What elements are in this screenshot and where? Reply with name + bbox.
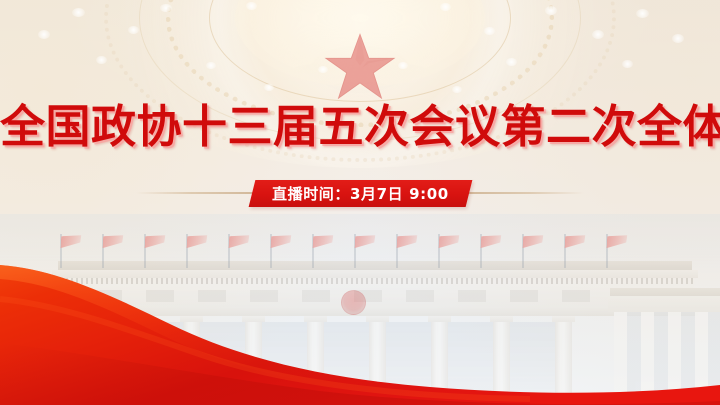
broadcast-time-banner: 直播时间：3月7日 9:00 [248, 180, 472, 207]
ceiling-light [128, 26, 139, 34]
national-emblem-icon [341, 290, 366, 315]
ceiling-light [206, 62, 216, 69]
subtitle-row: 直播时间：3月7日 9:00 [0, 178, 720, 208]
ceiling-light [264, 84, 274, 91]
ceiling-light [672, 34, 684, 43]
ceiling-light [636, 9, 649, 18]
ceiling-light [38, 30, 50, 39]
ceiling-light [246, 2, 257, 10]
red-star-icon [323, 30, 397, 104]
ceiling-light [440, 3, 451, 11]
divider-line-right [464, 192, 584, 194]
ceiling-light [318, 66, 328, 73]
ceiling-light [484, 27, 495, 35]
ceiling-light [96, 56, 107, 64]
ceiling-light [622, 60, 633, 68]
divider-line-left [136, 192, 256, 194]
ceiling-light [592, 30, 604, 39]
red-silk-ribbon [0, 225, 720, 405]
page-title: 全国政协十三届五次会议第二次全体会议 [0, 99, 720, 155]
ceiling-light [506, 58, 517, 66]
ceiling-light [452, 86, 462, 93]
ceiling-light [160, 4, 172, 12]
ceiling-light [545, 6, 557, 15]
red-ribbon-layer [0, 225, 720, 405]
ceiling-light [72, 8, 85, 17]
broadcast-time-label: 直播时间：3月7日 9:00 [272, 183, 449, 204]
live-stream-poster: 全国政协十三届五次会议第二次全体会议 直播时间：3月7日 9:00 [0, 0, 720, 405]
ceiling-light [398, 62, 408, 69]
